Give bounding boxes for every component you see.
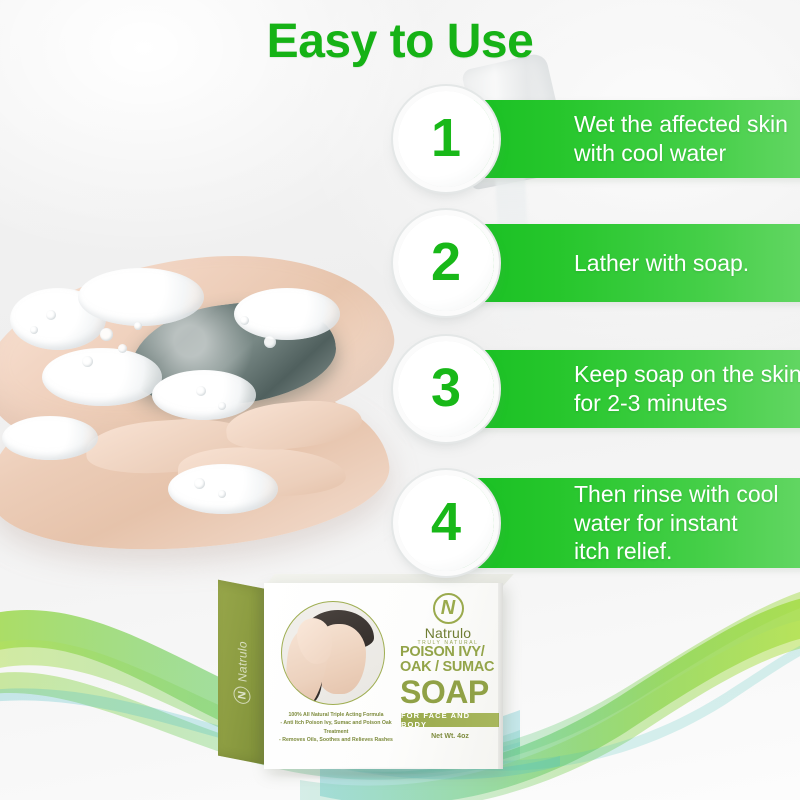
box-brand-logo: N Natrulo TRULY NATURAL: [400, 593, 496, 646]
step-number-badge: 2: [398, 215, 494, 311]
step-description: Then rinse with cool water for instant i…: [574, 478, 800, 568]
product-type: SOAP: [400, 678, 500, 707]
foam-bubble: [118, 344, 127, 353]
foam-bubble: [100, 328, 113, 341]
soapy-hands-image: [0, 252, 412, 582]
step-description: Lather with soap.: [574, 224, 800, 302]
step-description: Wet the affected skin with cool water: [574, 100, 800, 178]
foam-bubble: [264, 336, 276, 348]
box-drop-shadow: [270, 767, 502, 781]
foam-bubble: [194, 478, 205, 489]
foam-bubble: [30, 326, 38, 334]
net-weight: Net Wt. 4oz: [401, 733, 499, 740]
foam-bubble: [240, 316, 249, 325]
step-number: 2: [431, 235, 461, 289]
step-banner: Lather with soap.: [448, 224, 800, 302]
foam-blob: [78, 268, 204, 326]
step-banner: Then rinse with cool water for instant i…: [448, 478, 800, 568]
step-number-badge: 1: [398, 91, 494, 187]
box-model-photo: [281, 601, 385, 705]
product-title: POISON IVY/ OAK / SUMAC: [400, 645, 500, 676]
product-box: N Natrulo N Natrulo TRULY NATURAL POISON…: [218, 583, 503, 775]
foam-bubble: [82, 356, 93, 367]
brand-monogram-icon: N: [234, 685, 251, 705]
product-fine-print: 100% All Natural Triple Acting Formula -…: [278, 711, 394, 745]
infographic-canvas: Easy to Use Wet the affected skin with c…: [0, 0, 800, 800]
step-banner: Wet the affected skin with cool water: [448, 100, 800, 178]
step-description: Keep soap on the skin for 2-3 minutes: [574, 350, 800, 428]
foam-bubble: [134, 322, 142, 330]
foam-blob: [2, 416, 98, 460]
usage-band: FOR FACE AND BODY: [401, 713, 499, 727]
foam-blob: [42, 348, 162, 406]
page-title: Easy to Use: [0, 14, 800, 69]
step-number: 3: [431, 361, 461, 415]
foam-bubble: [46, 310, 56, 320]
foam-bubble: [218, 490, 226, 498]
box-front-face: N Natrulo TRULY NATURAL POISON IVY/ OAK …: [264, 583, 503, 769]
foam-blob: [234, 288, 340, 340]
box-side-panel: N Natrulo: [218, 580, 266, 765]
step-banner: Keep soap on the skin for 2-3 minutes: [448, 350, 800, 428]
brand-monogram-icon: N: [433, 593, 464, 624]
foam-blob: [168, 464, 278, 514]
side-panel-logo: N Natrulo: [234, 639, 251, 705]
foam-bubble: [196, 386, 206, 396]
step-number-badge: 3: [398, 341, 494, 437]
step-number: 4: [431, 495, 461, 549]
side-panel-brand-name: Natrulo: [235, 640, 249, 684]
step-number-badge: 4: [398, 475, 494, 571]
brand-name: Natrulo: [400, 625, 496, 641]
step-number: 1: [431, 111, 461, 165]
foam-bubble: [218, 402, 226, 410]
